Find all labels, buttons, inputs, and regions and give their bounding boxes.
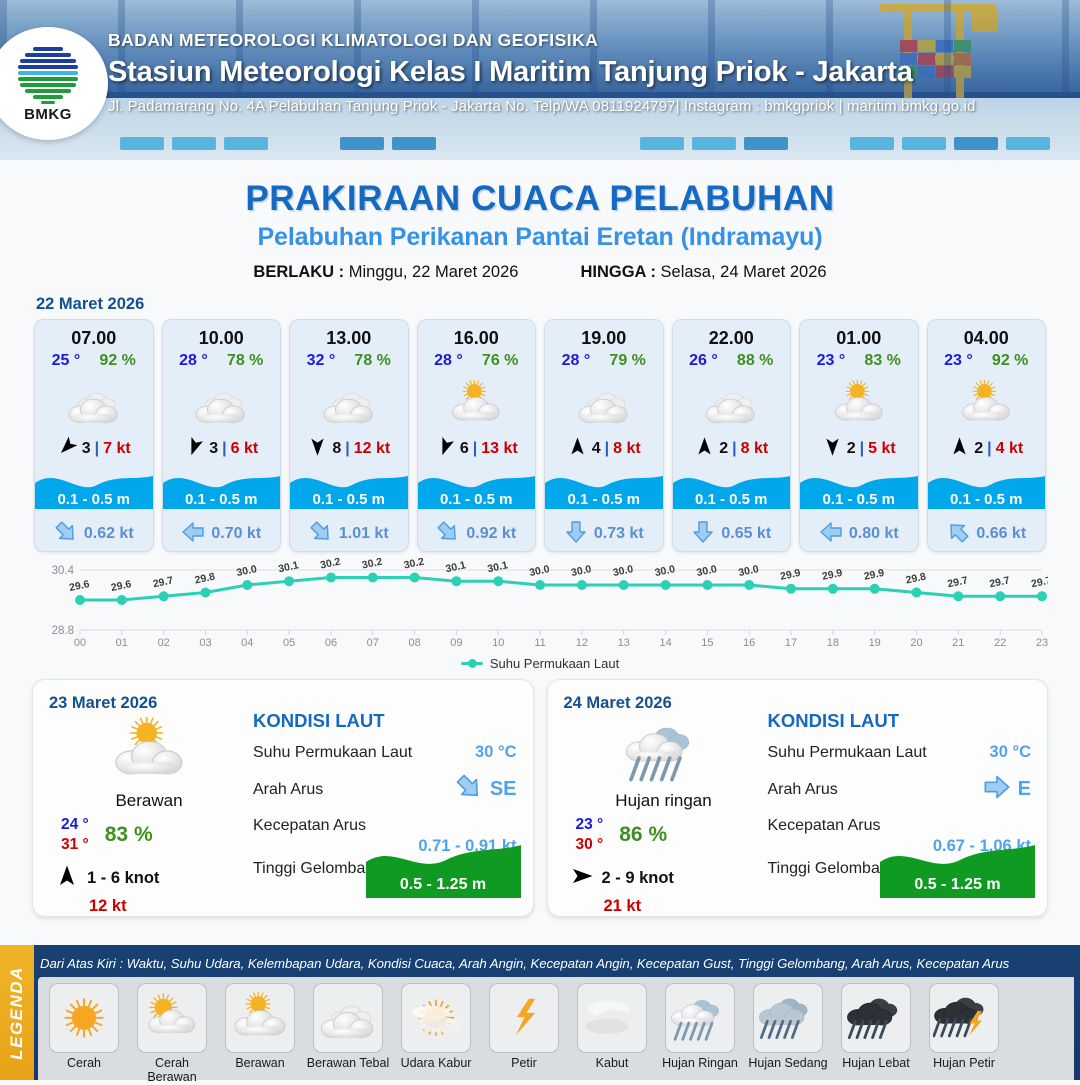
berlaku-value: Minggu, 22 Maret 2026 [349, 263, 519, 281]
card-current-row: 0.65 kt [673, 517, 791, 551]
svg-text:29.9: 29.9 [821, 567, 844, 583]
card-wave-height: 0.1 - 0.5 m [163, 491, 281, 508]
card-wind-row: 4 | 8 kt [545, 435, 663, 465]
daily-temp-column: 24 ° 31 ° [61, 816, 89, 854]
card-current-speed: 0.65 kt [721, 525, 771, 543]
card-humidity: 78 % [354, 352, 390, 370]
card-temperature: 26 ° [689, 352, 718, 370]
svg-text:29.8: 29.8 [905, 571, 928, 587]
daily-temp-min: 23 ° [576, 816, 604, 834]
daily-temps-humidity: 23 ° 30 ° 86 % [564, 816, 764, 854]
wind-direction-arrow-icon [822, 436, 843, 462]
card-temp-humidity: 25 ° 92 % [35, 351, 153, 370]
svg-text:14: 14 [659, 637, 671, 649]
svg-text:19: 19 [869, 637, 881, 649]
daily-gust: 21 kt [564, 897, 764, 916]
svg-text:29.8: 29.8 [194, 571, 217, 587]
card-wave-height: 0.1 - 0.5 m [800, 491, 918, 508]
page-title: PRAKIRAAN CUACA PELABUHAN [0, 179, 1080, 219]
svg-text:18: 18 [827, 637, 839, 649]
card-current-speed: 0.80 kt [849, 525, 899, 543]
card-humidity: 88 % [737, 352, 773, 370]
svg-text:30.0: 30.0 [612, 563, 635, 579]
card-current-speed: 0.73 kt [594, 525, 644, 543]
legend-item-label: Hujan Lebat [842, 1057, 909, 1071]
daily-condition: Hujan ringan [564, 791, 764, 811]
card-current-speed: 0.70 kt [211, 525, 261, 543]
header-text-block: BADAN METEOROLOGI KLIMATOLOGI DAN GEOFIS… [108, 30, 1068, 115]
card-wave-band: 0.1 - 0.5 m [163, 465, 281, 517]
daily-sea-conditions: KONDISI LAUT Suhu Permukaan Laut 30 °C A… [764, 694, 1032, 904]
card-wave-height: 0.1 - 0.5 m [35, 491, 153, 508]
hingga-value: Selasa, 24 Maret 2026 [661, 263, 827, 281]
bmkg-logo-label: BMKG [24, 106, 72, 123]
sea-row-current-direction: Arah Arus E [768, 773, 1032, 806]
card-temperature: 23 ° [944, 352, 973, 370]
legend-thunderstorm-icon [929, 983, 999, 1053]
svg-text:29.9: 29.9 [779, 567, 802, 583]
svg-text:13: 13 [618, 637, 630, 649]
card-wind-speed: 3 [82, 440, 91, 458]
card-current-row: 0.66 kt [928, 517, 1046, 551]
current-direction-arrow-icon [564, 520, 588, 549]
card-time: 16.00 [418, 320, 536, 351]
daily-wind-row: 1 - 6 knot [49, 864, 249, 893]
card-wind-separator: | [732, 440, 736, 458]
legend-item-label: Berawan [235, 1057, 284, 1071]
card-gust: 12 kt [354, 440, 390, 458]
hourly-forecast-card[interactable]: 04.00 23 ° 92 % 2 | 4 kt 0.1 - 0.5 m 0.6… [927, 319, 1047, 552]
legend-item: Hujan Petir [922, 983, 1006, 1071]
card-humidity: 76 % [482, 352, 518, 370]
current-speed-label: Kecepatan Arus [253, 817, 366, 835]
legend-lightning-icon [489, 983, 559, 1053]
daily-temp-max: 31 ° [61, 836, 89, 854]
card-current-row: 0.92 kt [418, 517, 536, 551]
legend-item-label: Petir [511, 1057, 537, 1071]
card-wind-speed: 4 [592, 440, 601, 458]
card-temp-humidity: 32 ° 78 % [290, 351, 408, 370]
card-time: 07.00 [35, 320, 153, 351]
daily-humidity: 86 % [619, 823, 667, 847]
card-temperature: 28 ° [434, 352, 463, 370]
legend-item: Kabut [570, 983, 654, 1071]
card-wind-separator: | [345, 440, 349, 458]
legend-tab: LEGENDA [0, 945, 34, 1080]
svg-text:08: 08 [408, 637, 420, 649]
card-weather-partly-cloudy-icon [928, 373, 1046, 435]
card-wind-separator: | [605, 440, 609, 458]
svg-text:01: 01 [116, 637, 128, 649]
daily-condition: Berawan [49, 791, 249, 811]
legend-item-label: Hujan Petir [933, 1057, 995, 1071]
sea-row-sst: Suhu Permukaan Laut 30 °C [253, 743, 517, 762]
svg-text:30.0: 30.0 [654, 563, 677, 579]
card-humidity: 79 % [609, 352, 645, 370]
sea-row-sst: Suhu Permukaan Laut 30 °C [768, 743, 1032, 762]
hourly-forecast-card[interactable]: 13.00 32 ° 78 % 8 | 12 kt 0.1 - 0.5 m [289, 319, 409, 552]
card-wind-speed: 2 [974, 440, 983, 458]
card-wind-row: 6 | 13 kt [418, 435, 536, 465]
sea-row-current-direction: Arah Arus SE [253, 773, 517, 806]
card-wind-row: 3 | 7 kt [35, 435, 153, 465]
legend-item: Berawan Tebal [306, 983, 390, 1071]
card-wave-height: 0.1 - 0.5 m [545, 491, 663, 508]
bmkg-logo-mark [17, 45, 79, 105]
legend-item: Petir [482, 983, 566, 1071]
card-wind-row: 2 | 8 kt [673, 435, 791, 465]
card-wind-row: 2 | 5 kt [800, 435, 918, 465]
legend-item-label: Udara Kabur [401, 1057, 472, 1071]
legend-item: Hujan Ringan [658, 983, 742, 1071]
hourly-forecast-card[interactable]: 19.00 28 ° 79 % 4 | 8 kt 0.1 - 0.5 m [544, 319, 664, 552]
legend-item: Cerah Berawan [130, 983, 214, 1085]
legend-sun-cloud-icon [137, 983, 207, 1053]
card-time: 22.00 [673, 320, 791, 351]
berlaku-field: BERLAKU : Minggu, 22 Maret 2026 [253, 263, 518, 282]
card-time: 04.00 [928, 320, 1046, 351]
current-direction-value: E [1018, 778, 1031, 801]
card-wind-separator: | [987, 440, 991, 458]
header-address: Jl. Padamarang No. 4A Pelabuhan Tanjung … [108, 98, 1068, 115]
card-weather-cloudy-icon [290, 373, 408, 435]
hourly-forecast-card[interactable]: 10.00 28 ° 78 % 3 | 6 kt 0.1 - 0.5 m [162, 319, 282, 552]
legend-moderate-rain-icon [753, 983, 823, 1053]
legend-item: Cerah [42, 983, 126, 1071]
card-wave-height: 0.1 - 0.5 m [418, 491, 536, 508]
card-wind-separator: | [95, 440, 99, 458]
daily-wave-height-value: 0.5 - 1.25 m [880, 876, 1035, 894]
card-gust: 4 kt [996, 440, 1024, 458]
card-weather-partly-cloudy-icon [418, 373, 536, 435]
card-wind-speed: 6 [460, 440, 469, 458]
svg-text:10: 10 [492, 637, 504, 649]
svg-text:07: 07 [367, 637, 379, 649]
page-header: BMKG BADAN METEOROLOGI KLIMATOLOGI DAN G… [0, 0, 1080, 160]
sea-conditions-title: KONDISI LAUT [253, 710, 517, 732]
card-weather-cloudy-icon [673, 373, 791, 435]
current-direction-arrow-icon [181, 520, 205, 549]
wind-direction-arrow-icon [567, 436, 588, 462]
wind-direction-arrow-icon [184, 436, 205, 462]
legend-item-label: Kabut [596, 1057, 629, 1071]
svg-text:05: 05 [283, 637, 295, 649]
card-wave-height: 0.1 - 0.5 m [290, 491, 408, 508]
card-current-speed: 0.92 kt [466, 525, 516, 543]
card-humidity: 78 % [227, 352, 263, 370]
daily-wave-height-value: 0.5 - 1.25 m [366, 876, 521, 894]
sst-value: 30 °C [990, 743, 1031, 762]
terminal-chairs [0, 114, 1080, 154]
card-wind-speed: 2 [719, 440, 728, 458]
legend-note: Dari Atas Kiri : Waktu, Suhu Udara, Kele… [40, 956, 1009, 971]
daily-sea-conditions: KONDISI LAUT Suhu Permukaan Laut 30 °C A… [249, 694, 517, 904]
hingga-field: HINGGA : Selasa, 24 Maret 2026 [580, 263, 826, 282]
current-direction-arrow-icon [436, 520, 460, 549]
card-temp-humidity: 28 ° 78 % [163, 351, 281, 370]
legend-partly-cloudy-icon [225, 983, 295, 1053]
svg-text:30.4: 30.4 [52, 565, 75, 577]
header-station-name: Stasiun Meteorologi Kelas I Maritim Tanj… [108, 56, 1068, 89]
card-time: 13.00 [290, 320, 408, 351]
svg-text:20: 20 [910, 637, 922, 649]
daily-temp-max: 30 ° [576, 836, 604, 854]
legend-haze-icon [401, 983, 471, 1053]
daily-wind-direction-arrow-icon [55, 864, 79, 893]
daily-wind-range: 2 - 9 knot [602, 869, 674, 888]
sea-conditions-title: KONDISI LAUT [768, 710, 1032, 732]
legend-fog-icon [577, 983, 647, 1053]
card-weather-cloudy-icon [163, 373, 281, 435]
card-gust: 13 kt [481, 440, 517, 458]
card-wind-speed: 2 [847, 440, 856, 458]
svg-text:12: 12 [576, 637, 588, 649]
card-weather-cloudy-icon [35, 373, 153, 435]
card-wave-height: 0.1 - 0.5 m [673, 491, 791, 508]
sst-label: Suhu Permukaan Laut [253, 744, 412, 762]
card-weather-cloudy-icon [545, 373, 663, 435]
current-direction-arrow-icon [946, 520, 970, 549]
legend-item-label: Hujan Sedang [748, 1057, 827, 1071]
card-wind-row: 3 | 6 kt [163, 435, 281, 465]
wave-height-label: Tinggi Gelombang [768, 860, 898, 878]
wind-direction-arrow-icon [57, 436, 78, 462]
current-direction-arrow-icon [54, 520, 78, 549]
card-gust: 8 kt [741, 440, 769, 458]
svg-text:30.0: 30.0 [696, 563, 719, 579]
card-wind-separator: | [860, 440, 864, 458]
card-gust: 6 kt [231, 440, 259, 458]
current-direction-label: Arah Arus [253, 781, 323, 799]
card-wave-band: 0.1 - 0.5 m [545, 465, 663, 517]
card-wind-speed: 3 [209, 440, 218, 458]
card-temperature: 23 ° [817, 352, 846, 370]
chart-legend-marker-icon [461, 662, 483, 665]
card-temperature: 25 ° [52, 352, 81, 370]
wind-direction-arrow-icon [307, 436, 328, 462]
card-wave-band: 0.1 - 0.5 m [673, 465, 791, 517]
card-wave-band: 0.1 - 0.5 m [418, 465, 536, 517]
daily-summary: 24 Maret 2026 Hujan ringan 23 ° 30 ° 86 … [564, 694, 764, 904]
current-direction-label: Arah Arus [768, 781, 838, 799]
current-direction-arrow-icon [691, 520, 715, 549]
svg-text:21: 21 [952, 637, 964, 649]
card-gust: 7 kt [103, 440, 131, 458]
current-direction-arrow-icon [309, 520, 333, 549]
svg-text:29.7: 29.7 [988, 574, 1011, 590]
hourly-date-label: 22 Maret 2026 [36, 295, 1080, 314]
card-wave-height: 0.1 - 0.5 m [928, 491, 1046, 508]
card-wind-row: 8 | 12 kt [290, 435, 408, 465]
svg-text:22: 22 [994, 637, 1006, 649]
legend-item-label: Hujan Ringan [662, 1057, 738, 1071]
svg-text:11: 11 [534, 637, 545, 649]
header-organization: BADAN METEOROLOGI KLIMATOLOGI DAN GEOFIS… [108, 30, 1068, 51]
hourly-forecast-card[interactable]: 22.00 26 ° 88 % 2 | 8 kt 0.1 - 0.5 m [672, 319, 792, 552]
hingga-label: HINGGA : [580, 263, 655, 281]
card-humidity: 83 % [864, 352, 900, 370]
daily-wave-band: 0.5 - 1.25 m [366, 840, 521, 902]
svg-text:00: 00 [74, 637, 86, 649]
legend-item: Udara Kabur [394, 983, 478, 1071]
legend-item-label: Berawan Tebal [307, 1057, 389, 1071]
card-temperature: 32 ° [307, 352, 336, 370]
svg-text:29.9: 29.9 [863, 567, 886, 583]
legend-sun-icon [49, 983, 119, 1053]
daily-wind-row: 2 - 9 knot [564, 864, 764, 893]
legend-item: Hujan Sedang [746, 983, 830, 1071]
validity-row: BERLAKU : Minggu, 22 Maret 2026 HINGGA :… [0, 263, 1080, 282]
svg-text:29.7: 29.7 [946, 574, 969, 590]
svg-text:09: 09 [450, 637, 462, 649]
card-current-speed: 0.62 kt [84, 525, 134, 543]
svg-text:23: 23 [1036, 637, 1048, 649]
card-temp-humidity: 26 ° 88 % [673, 351, 791, 370]
svg-text:29.6: 29.6 [68, 578, 91, 594]
legend-heavy-rain-icon [841, 983, 911, 1053]
card-temperature: 28 ° [562, 352, 591, 370]
svg-text:30.0: 30.0 [528, 563, 551, 579]
card-wave-band: 0.1 - 0.5 m [35, 465, 153, 517]
card-weather-partly-cloudy-icon [800, 373, 918, 435]
legend-item-label: Cerah [67, 1057, 101, 1071]
svg-text:29.7: 29.7 [152, 574, 175, 590]
card-temp-humidity: 23 ° 92 % [928, 351, 1046, 370]
card-current-speed: 1.01 kt [339, 525, 389, 543]
card-humidity: 92 % [992, 352, 1028, 370]
svg-text:30.0: 30.0 [737, 563, 760, 579]
daily-temps-humidity: 24 ° 31 ° 83 % [49, 816, 249, 854]
card-temperature: 28 ° [179, 352, 208, 370]
page-subtitle: Pelabuhan Perikanan Pantai Eretan (Indra… [0, 223, 1080, 252]
chart-legend: Suhu Permukaan Laut [0, 656, 1080, 671]
berlaku-label: BERLAKU : [253, 263, 344, 281]
card-wind-separator: | [473, 440, 477, 458]
daily-forecast-row: 23 Maret 2026 Berawan 24 ° 31 ° 83 % 1 -… [0, 671, 1080, 917]
hourly-forecast-card[interactable]: 01.00 23 ° 83 % 2 | 5 kt 0.1 - 0.5 m 0.8… [799, 319, 919, 552]
svg-text:16: 16 [743, 637, 755, 649]
daily-wind-direction-arrow-icon [570, 864, 594, 893]
current-direction-value: SE [490, 778, 517, 801]
legend-tab-label: LEGENDA [7, 966, 27, 1060]
wave-height-label: Tinggi Gelombang [253, 860, 383, 878]
daily-current-direction-arrow-icon [455, 773, 483, 806]
svg-text:30.0: 30.0 [235, 563, 258, 579]
svg-text:30.1: 30.1 [486, 559, 509, 575]
daily-date: 24 Maret 2026 [564, 694, 764, 713]
card-temp-humidity: 28 ° 79 % [545, 351, 663, 370]
svg-text:30.1: 30.1 [445, 559, 468, 575]
card-current-row: 1.01 kt [290, 517, 408, 551]
hourly-forecast-card[interactable]: 16.00 28 ° 76 % 6 | 13 kt 0.1 - 0.5 m 0.… [417, 319, 537, 552]
daily-temp-column: 23 ° 30 ° [576, 816, 604, 854]
hourly-forecast-card[interactable]: 07.00 25 ° 92 % 3 | 7 kt 0.1 - 0.5 m [34, 319, 154, 552]
card-wind-row: 2 | 4 kt [928, 435, 1046, 465]
sea-surface-temperature-chart: 30.4 28.8 29.629.629.729.830.030.130.230… [32, 558, 1048, 653]
card-wave-band: 0.1 - 0.5 m [290, 465, 408, 517]
daily-forecast-panel[interactable]: 23 Maret 2026 Berawan 24 ° 31 ° 83 % 1 -… [32, 679, 534, 917]
daily-date: 23 Maret 2026 [49, 694, 249, 713]
card-current-speed: 0.66 kt [976, 525, 1026, 543]
daily-temp-min: 24 ° [61, 816, 89, 834]
svg-text:29.7: 29.7 [1030, 574, 1048, 590]
card-time: 01.00 [800, 320, 918, 351]
legend-item: Berawan [218, 983, 302, 1071]
svg-text:30.1: 30.1 [277, 559, 300, 575]
daily-forecast-panel[interactable]: 24 Maret 2026 Hujan ringan 23 ° 30 ° 86 … [547, 679, 1049, 917]
current-direction-value-group: E [983, 773, 1031, 806]
card-wave-band: 0.1 - 0.5 m [928, 465, 1046, 517]
svg-text:04: 04 [241, 637, 253, 649]
card-time: 10.00 [163, 320, 281, 351]
daily-weather-partly-cloudy-icon [49, 715, 249, 787]
svg-text:28.8: 28.8 [52, 625, 74, 637]
card-wind-speed: 8 [332, 440, 341, 458]
svg-text:29.6: 29.6 [110, 578, 133, 594]
chart-legend-label: Suhu Permukaan Laut [490, 656, 619, 671]
card-current-row: 0.73 kt [545, 517, 663, 551]
daily-summary: 23 Maret 2026 Berawan 24 ° 31 ° 83 % 1 -… [49, 694, 249, 904]
current-direction-arrow-icon [819, 520, 843, 549]
card-time: 19.00 [545, 320, 663, 351]
legend-item: Hujan Lebat [834, 983, 918, 1071]
legend-icon-strip: Cerah Cerah Berawan Berawan Berawan Teba… [38, 977, 1074, 1080]
sst-value: 30 °C [475, 743, 516, 762]
daily-humidity: 83 % [105, 823, 153, 847]
daily-wind-range: 1 - 6 knot [87, 869, 159, 888]
card-gust: 5 kt [868, 440, 896, 458]
legend-item-label: Cerah Berawan [130, 1057, 214, 1085]
legend-cloudy-icon [313, 983, 383, 1053]
legend-light-rain-icon [665, 983, 735, 1053]
daily-gust: 12 kt [49, 897, 249, 916]
wind-direction-arrow-icon [435, 436, 456, 462]
svg-text:06: 06 [325, 637, 337, 649]
svg-text:15: 15 [701, 637, 713, 649]
current-direction-value-group: SE [455, 773, 517, 806]
daily-weather-light-rain-icon [564, 715, 764, 787]
sst-label: Suhu Permukaan Laut [768, 744, 927, 762]
wind-direction-arrow-icon [694, 436, 715, 462]
daily-wave-band: 0.5 - 1.25 m [880, 840, 1035, 902]
card-wave-band: 0.1 - 0.5 m [800, 465, 918, 517]
card-current-row: 0.62 kt [35, 517, 153, 551]
card-current-row: 0.80 kt [800, 517, 918, 551]
svg-text:03: 03 [199, 637, 211, 649]
card-wind-separator: | [222, 440, 226, 458]
card-temp-humidity: 23 ° 83 % [800, 351, 918, 370]
svg-text:30.0: 30.0 [570, 563, 593, 579]
card-gust: 8 kt [613, 440, 641, 458]
card-current-row: 0.70 kt [163, 517, 281, 551]
current-speed-label: Kecepatan Arus [768, 817, 881, 835]
card-humidity: 92 % [99, 352, 135, 370]
svg-text:17: 17 [785, 637, 797, 649]
svg-text:02: 02 [158, 637, 170, 649]
legend-footer: LEGENDA Dari Atas Kiri : Waktu, Suhu Uda… [0, 945, 1080, 1080]
hourly-forecast-row: 07.00 25 ° 92 % 3 | 7 kt 0.1 - 0.5 m [0, 319, 1080, 552]
card-temp-humidity: 28 ° 76 % [418, 351, 536, 370]
wind-direction-arrow-icon [949, 436, 970, 462]
daily-current-direction-arrow-icon [983, 773, 1011, 806]
